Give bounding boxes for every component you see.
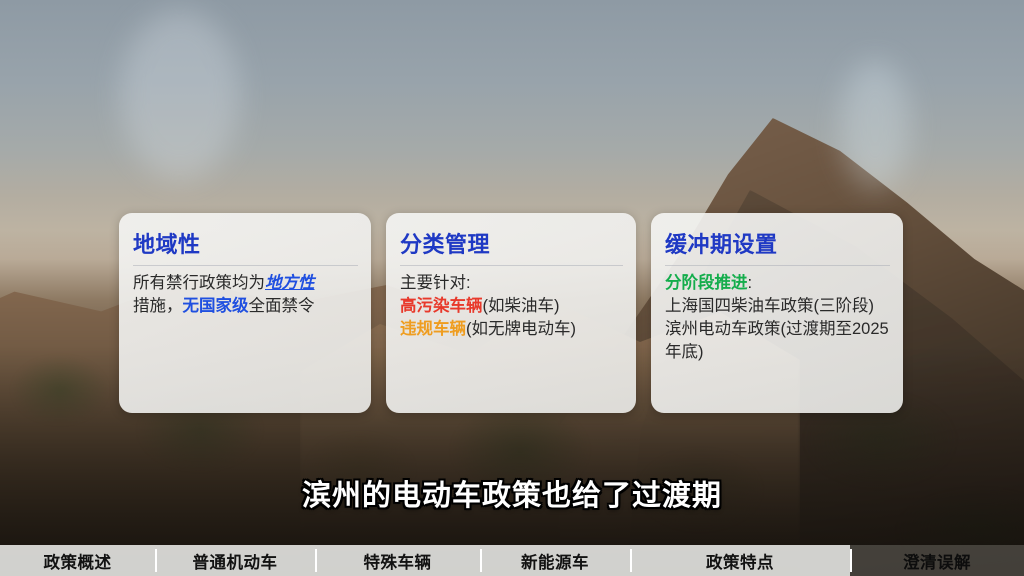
card-body-run: 滨州电动车政策(过渡期至2025年底) xyxy=(665,320,889,361)
tab-policy-features[interactable]: 政策特点 xyxy=(630,545,850,576)
tab-clarify-misunderstanding[interactable]: 澄清误解 xyxy=(850,545,1024,576)
subtitle-caption: 滨州的电动车政策也给了过渡期 xyxy=(0,472,1024,514)
card-title: 分类管理 xyxy=(400,232,623,266)
card-body-line: 高污染车辆(如柴油车) xyxy=(400,295,623,318)
card-body-run: 高污染车辆 xyxy=(400,297,483,315)
card-body-run: (如柴油车) xyxy=(483,297,560,315)
card-body: 分阶段推进:上海国四柴油车政策(三阶段)滨州电动车政策(过渡期至2025年底) xyxy=(665,272,890,364)
card-title: 缓冲期设置 xyxy=(665,232,890,266)
card-body-run: 所有禁行政策均为 xyxy=(133,274,265,292)
video-frame: 地域性 所有禁行政策均为地方性措施，无国家级全面禁令 分类管理 主要针对:高污染… xyxy=(0,0,1024,576)
card-body-run: 地方性 xyxy=(265,274,315,292)
card-body-run: 分阶段推进 xyxy=(665,274,748,292)
card-body-line: 违规车辆(如无牌电动车) xyxy=(400,318,623,341)
tab-policy-overview[interactable]: 政策概述 xyxy=(0,545,155,576)
card-body-line: 分阶段推进: xyxy=(665,272,890,295)
tab-special-vehicle[interactable]: 特殊车辆 xyxy=(315,545,480,576)
card-body-line: 主要针对: xyxy=(400,272,623,295)
card-body: 所有禁行政策均为地方性措施，无国家级全面禁令 xyxy=(133,272,358,318)
tab-ordinary-motor-vehicle[interactable]: 普通机动车 xyxy=(155,545,315,576)
card-body-run: 全面禁令 xyxy=(249,297,315,315)
card-body-run: : xyxy=(748,274,753,292)
info-card-classified-management: 分类管理 主要针对:高污染车辆(如柴油车)违规车辆(如无牌电动车) xyxy=(386,213,636,413)
card-body: 主要针对:高污染车辆(如柴油车)违规车辆(如无牌电动车) xyxy=(400,272,623,341)
card-body-run: 上海国四柴油车政策(三阶段) xyxy=(665,297,874,315)
card-body-line: 滨州电动车政策(过渡期至2025年底) xyxy=(665,318,890,364)
card-body-run: 无国家级 xyxy=(183,297,249,315)
card-body-line: 所有禁行政策均为地方性 xyxy=(133,272,358,295)
card-body-run: 措施， xyxy=(133,297,183,315)
info-card-regionality: 地域性 所有禁行政策均为地方性措施，无国家级全面禁令 xyxy=(119,213,371,413)
tab-new-energy-vehicle[interactable]: 新能源车 xyxy=(480,545,630,576)
card-body-run: 主要针对: xyxy=(400,274,471,292)
card-body-line: 上海国四柴油车政策(三阶段) xyxy=(665,295,890,318)
card-body-run: (如无牌电动车) xyxy=(466,320,576,338)
card-title: 地域性 xyxy=(133,232,358,266)
info-card-group: 地域性 所有禁行政策均为地方性措施，无国家级全面禁令 分类管理 主要针对:高污染… xyxy=(0,213,1024,413)
card-body-run: 违规车辆 xyxy=(400,320,466,338)
bottom-tab-bar: 政策概述 普通机动车 特殊车辆 新能源车 政策特点 澄清误解 xyxy=(0,545,1024,576)
info-card-buffer-period: 缓冲期设置 分阶段推进:上海国四柴油车政策(三阶段)滨州电动车政策(过渡期至20… xyxy=(651,213,903,413)
card-body-line: 措施，无国家级全面禁令 xyxy=(133,295,358,318)
